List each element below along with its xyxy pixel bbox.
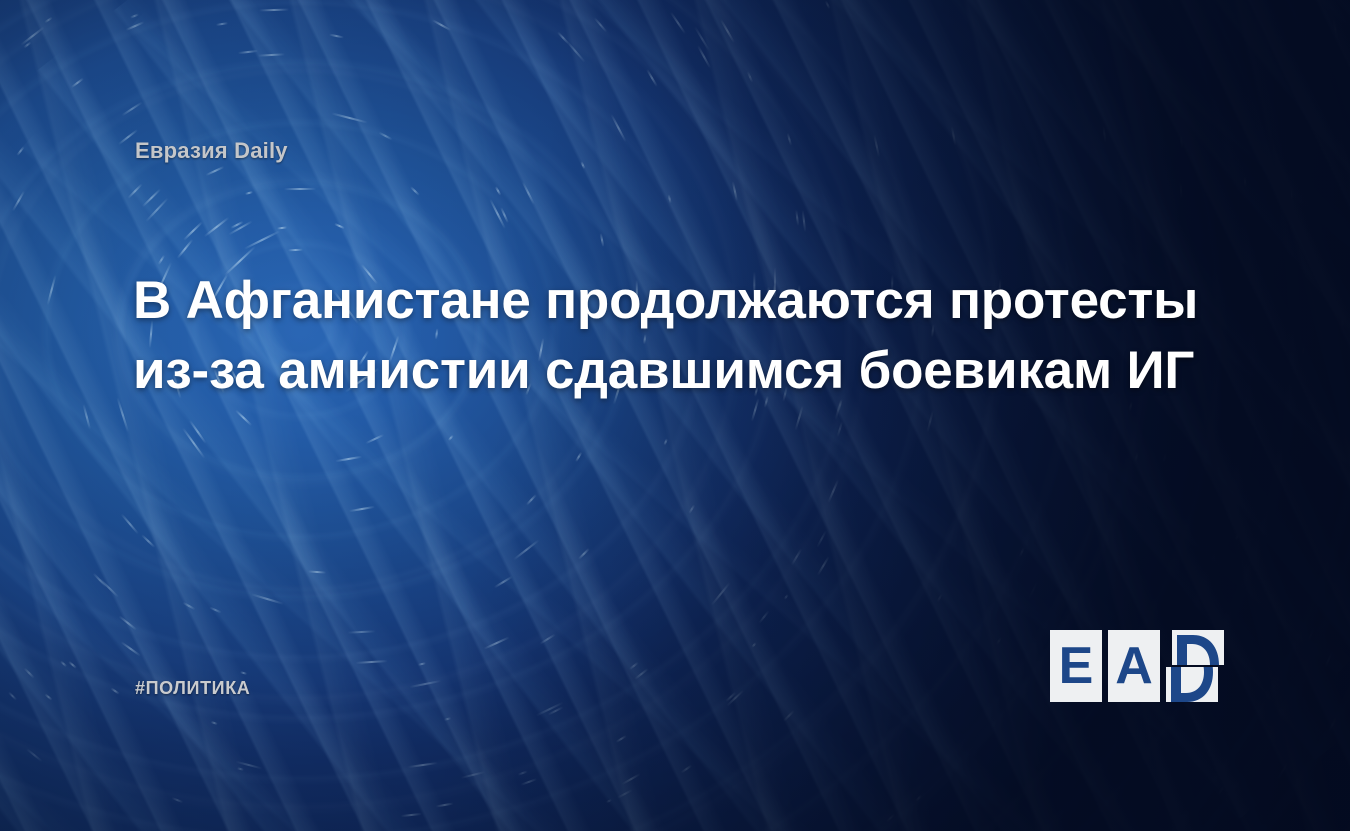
brand-label: Евразия Daily xyxy=(135,138,288,164)
headline-title: В Афганистане продолжаются протесты из-з… xyxy=(133,266,1243,406)
category-hashtag: #ПОЛИТИКА xyxy=(135,678,250,699)
logo-letter-a: A xyxy=(1108,630,1160,702)
card-content: Евразия Daily В Афганистане продолжаются… xyxy=(0,0,1350,831)
logo-tile-e: E xyxy=(1050,630,1102,702)
logo-letter-d-upper xyxy=(1172,630,1224,665)
logo-tile-d-split xyxy=(1166,630,1224,702)
share-card: Евразия Daily В Афганистане продолжаются… xyxy=(0,0,1350,831)
logo-letter-d-lower xyxy=(1166,667,1218,702)
eadaily-logo: E A xyxy=(1050,630,1225,702)
logo-letter-e: E xyxy=(1050,630,1102,702)
logo-tile-a: A xyxy=(1108,630,1160,702)
